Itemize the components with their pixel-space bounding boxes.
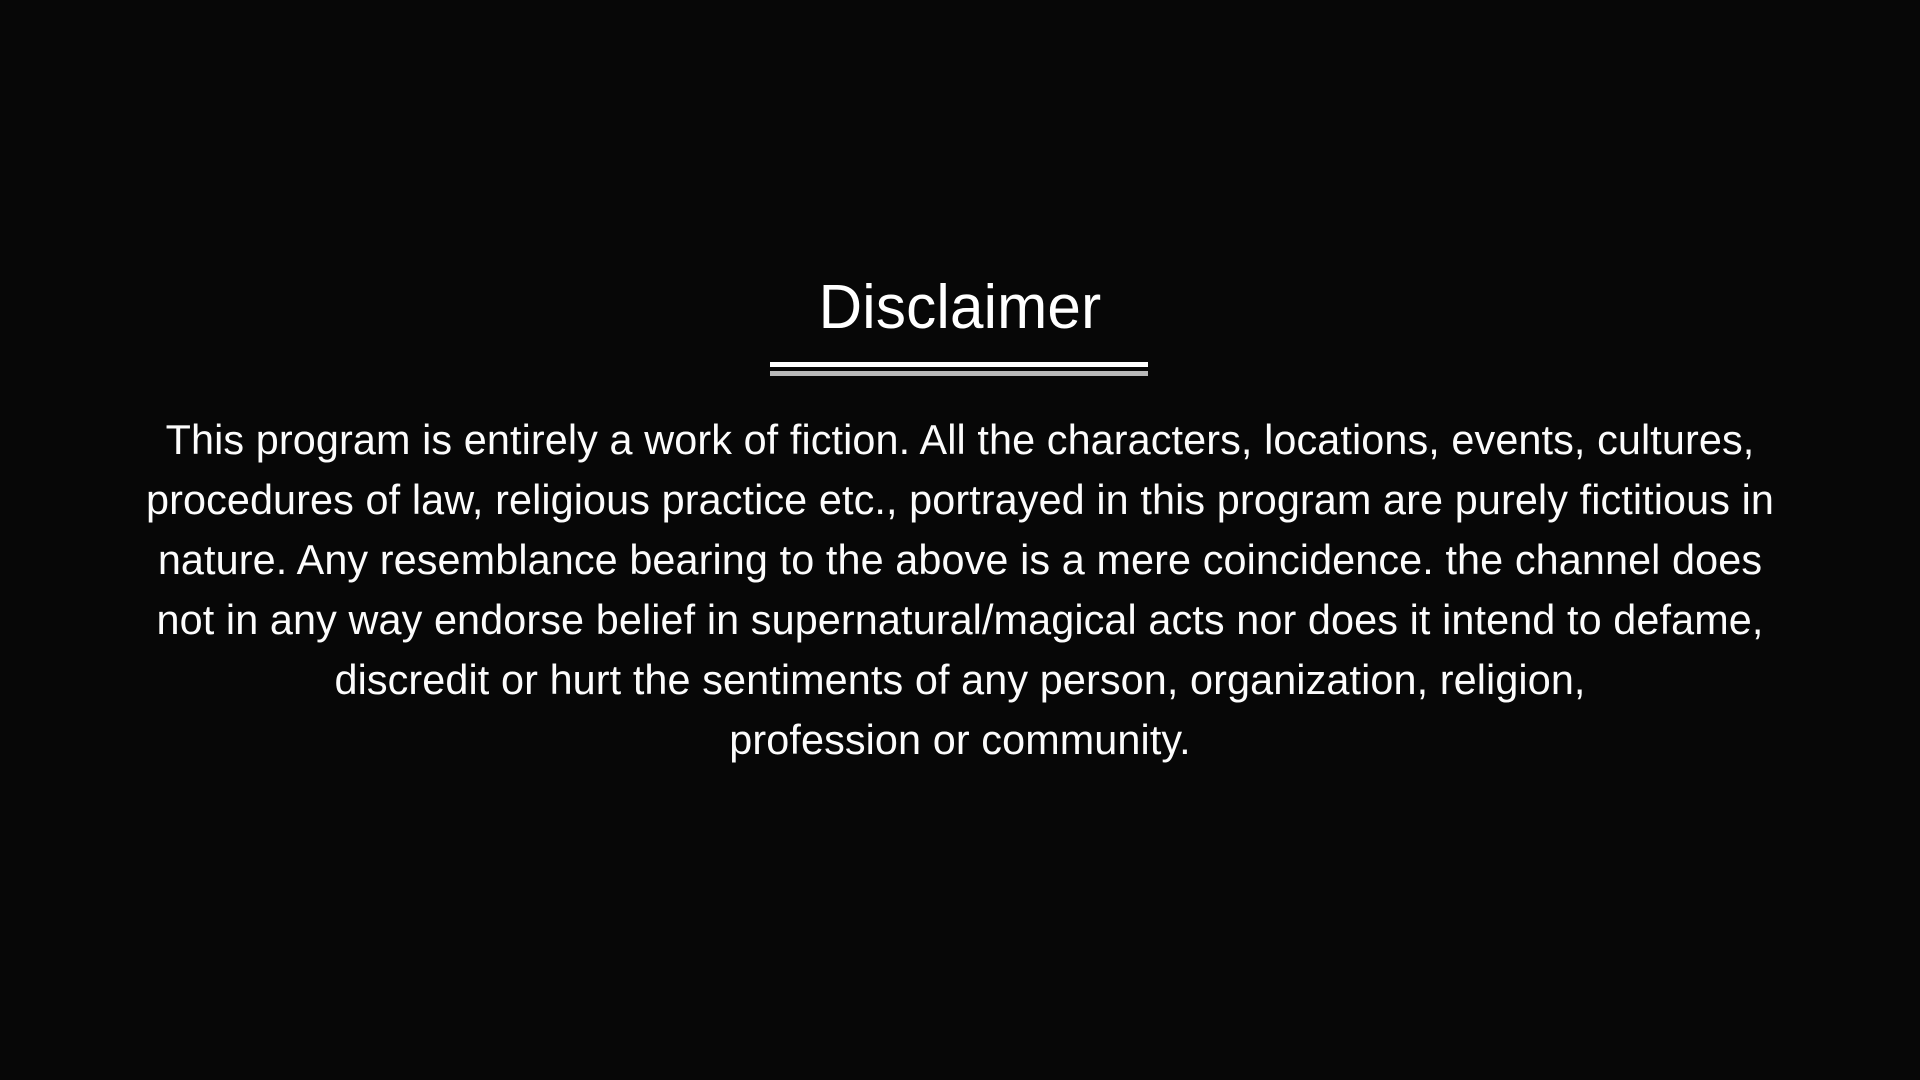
disclaimer-text-block: This program is entirely a work of ficti… bbox=[130, 410, 1790, 770]
rule-line-primary bbox=[770, 362, 1148, 367]
disclaimer-line: procedures of law, religious practice et… bbox=[142, 470, 1777, 530]
disclaimer-line: nature. Any resemblance bearing to the a… bbox=[142, 530, 1777, 590]
disclaimer-line: This program is entirely a work of ficti… bbox=[142, 410, 1777, 470]
rule-line-secondary bbox=[770, 371, 1148, 376]
disclaimer-line: discredit or hurt the sentiments of any … bbox=[142, 650, 1777, 710]
disclaimer-line: profession or community. bbox=[142, 710, 1777, 770]
page-title: Disclaimer bbox=[29, 272, 1891, 344]
disclaimer-slide: Disclaimer This program is entirely a wo… bbox=[0, 0, 1920, 1080]
title-block: Disclaimer bbox=[0, 272, 1920, 344]
title-underline-rule bbox=[770, 362, 1148, 376]
disclaimer-line: not in any way endorse belief in superna… bbox=[142, 590, 1777, 650]
